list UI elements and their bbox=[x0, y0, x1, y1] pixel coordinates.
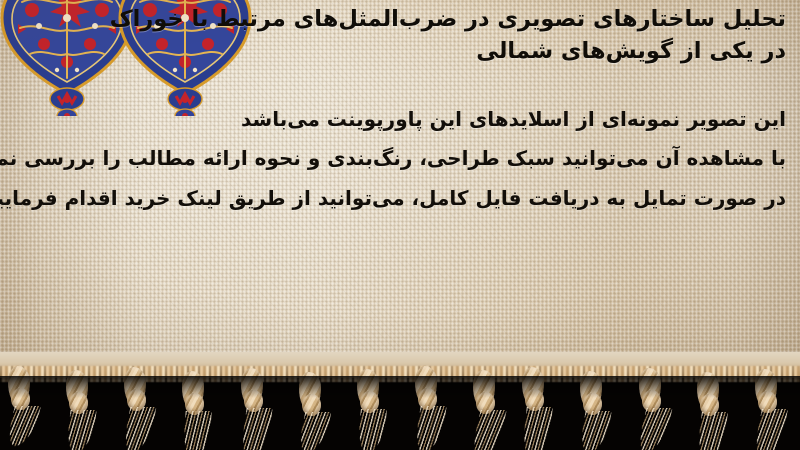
carpet-knotted-fringe bbox=[0, 352, 800, 450]
tassel-strands bbox=[413, 406, 446, 450]
tassel-strands bbox=[5, 406, 41, 446]
title-line-2: در یکی از گویش‌های شمالی bbox=[14, 36, 786, 68]
fringe-knot bbox=[289, 368, 347, 450]
tassel-strands bbox=[521, 407, 553, 450]
tassel-strands bbox=[122, 407, 157, 450]
text-layer: تحلیل ساختارهای تصویری در ضرب‌المثل‌های … bbox=[0, 0, 800, 372]
fringe-knot bbox=[405, 362, 463, 448]
tassel-strands bbox=[752, 409, 788, 450]
fringe-knot bbox=[172, 367, 230, 450]
tassel-strands bbox=[696, 412, 728, 450]
body-line-2: با مشاهده آن می‌توانید سبک طراحی، رنگ‌بن… bbox=[14, 139, 786, 179]
tassel-strands bbox=[579, 411, 612, 450]
fringe-knot bbox=[231, 364, 289, 450]
tassel-strands bbox=[635, 408, 672, 450]
fringe-knot bbox=[56, 366, 114, 450]
tassel-strands bbox=[66, 410, 97, 450]
fringe-knot bbox=[0, 362, 56, 448]
title-line-1: تحلیل ساختارهای تصویری در ضرب‌المثل‌های … bbox=[14, 4, 786, 36]
tassel-strands bbox=[296, 412, 331, 450]
fringe-knot bbox=[347, 365, 405, 450]
tassel-strands bbox=[183, 411, 212, 450]
tassel-strands bbox=[239, 408, 272, 450]
body-line-1: این تصویر نمونه‌ای از اسلایدهای این پاور… bbox=[14, 100, 786, 140]
slide-canvas: تحلیل ساختارهای تصویری در ضرب‌المثل‌های … bbox=[0, 0, 800, 450]
fringe-knot bbox=[629, 364, 687, 450]
tassel-strands bbox=[357, 409, 387, 450]
fringe-knot bbox=[745, 365, 800, 450]
fringe-knot bbox=[570, 367, 628, 450]
body-line-3: در صورت تمایل به دریافت فایل کامل، می‌تو… bbox=[14, 179, 786, 219]
tassel-strands bbox=[469, 410, 507, 450]
fringe-knot bbox=[512, 363, 570, 449]
slide-body-text: این تصویر نمونه‌ای از اسلایدهای این پاور… bbox=[14, 68, 786, 219]
canvas-background: تحلیل ساختارهای تصویری در ضرب‌المثل‌های … bbox=[0, 0, 800, 372]
slide-title: تحلیل ساختارهای تصویری در ضرب‌المثل‌های … bbox=[14, 0, 786, 68]
fringe-knot bbox=[114, 363, 172, 449]
fringe-knot bbox=[687, 368, 745, 450]
